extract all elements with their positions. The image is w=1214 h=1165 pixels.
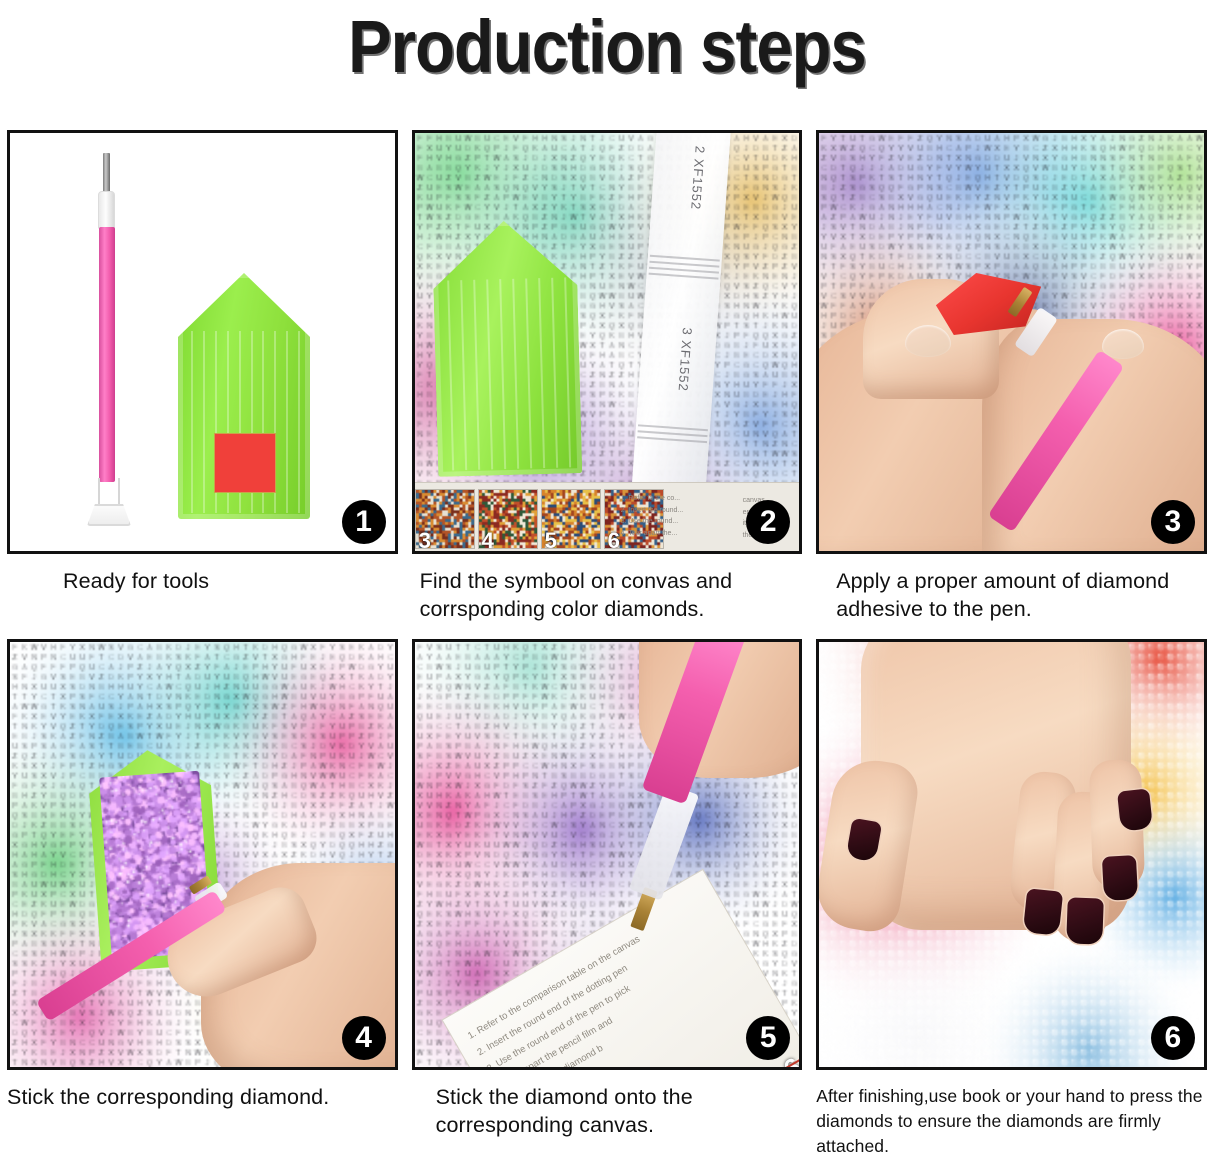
- page-title: Production steps: [73, 4, 1141, 89]
- sheet-thumb-number: 5: [545, 528, 557, 549]
- step-badge-6: 6: [1151, 1016, 1195, 1060]
- sheet-thumb: 3: [415, 489, 475, 549]
- step-panel-3[interactable]: 3: [816, 130, 1207, 554]
- step-caption-6: After finishing,use book or your hand to…: [816, 1070, 1207, 1159]
- fingernail: [1023, 888, 1063, 936]
- fingernail: [1102, 329, 1144, 359]
- step-cell-2: 2 XF1552 3 XF1552 3 4 5 6 1. Refer to th…: [405, 130, 810, 623]
- pen-stand: [85, 478, 129, 524]
- step-cell-4: 4 Stick the corresponding diamond.: [0, 639, 405, 1159]
- step-cell-5: 1. Refer to the comparison table on the …: [405, 639, 810, 1159]
- step-badge-5: 5: [746, 1016, 790, 1060]
- sheet-thumb-number: 6: [608, 528, 620, 549]
- step-caption-2: Find the symbool on convas and corrspond…: [412, 554, 803, 623]
- step-caption-4: Stick the corresponding diamond.: [7, 1070, 398, 1112]
- sheet-instruction-lines: 1. Refer to the co... 2. Insert the roun…: [621, 493, 741, 539]
- steps-row-top: 1 Ready for tools: [0, 130, 1214, 623]
- sheet-thumb: 4: [478, 489, 538, 549]
- bag-label-1: 2 XF1552: [688, 145, 707, 210]
- step-panel-1[interactable]: 1: [7, 130, 398, 554]
- pen-body: [99, 227, 115, 482]
- step-caption-5: Stick the diamond onto the corresponding…: [412, 1070, 803, 1139]
- steps-row-bottom: 4 Stick the corresponding diamond. 1. Re…: [0, 639, 1214, 1159]
- sheet-thumb-number: 3: [419, 528, 431, 549]
- diamond-tray-icon: [431, 219, 582, 477]
- sheet-line: 2. Insert the round...: [621, 505, 741, 517]
- step-badge-3: 3: [1151, 500, 1195, 544]
- diamond-pen-icon: [96, 153, 118, 523]
- tray-edge: [431, 219, 582, 477]
- step-badge-1: 1: [342, 500, 386, 544]
- step-panel-4[interactable]: 4: [7, 639, 398, 1070]
- step-panel-2[interactable]: 2 XF1552 3 XF1552 3 4 5 6 1. Refer to th…: [412, 130, 803, 554]
- step-panel-6[interactable]: 6: [816, 639, 1207, 1070]
- sheet-line: 1. Refer to the co...: [621, 493, 741, 505]
- bag-label-2: 3 XF1552: [675, 327, 694, 392]
- diamond-tray-icon: [178, 273, 310, 519]
- sheet-line: 3. Use the round...: [621, 516, 741, 528]
- pen-collar: [98, 191, 115, 229]
- step-panel-5[interactable]: 1. Refer to the comparison table on the …: [412, 639, 803, 1070]
- step-cell-3: 3 Apply a proper amount of diamond adhes…: [809, 130, 1214, 623]
- pen-tip: [103, 153, 110, 193]
- sheet-thumb: 5: [541, 489, 601, 549]
- step-cell-6: 6 After finishing,use book or your hand …: [809, 639, 1214, 1159]
- instruction-sheet: 3 4 5 6 1. Refer to the co... 2. Insert …: [413, 482, 803, 553]
- step-badge-2: 2: [746, 500, 790, 544]
- fingernail: [1117, 788, 1153, 831]
- fingernail: [1102, 855, 1138, 901]
- sheet-thumb-number: 4: [482, 528, 494, 549]
- step-badge-4: 4: [342, 1016, 386, 1060]
- fingernail: [1066, 897, 1104, 944]
- sheet-image: [527, 1069, 705, 1070]
- step-caption-3: Apply a proper amount of diamond adhesiv…: [816, 554, 1207, 623]
- sheet-line: 4. Tear apart the...: [621, 528, 741, 540]
- steps-grid: 1 Ready for tools: [0, 130, 1214, 1159]
- tray-red-label: [214, 433, 276, 493]
- step-cell-1: 1 Ready for tools: [0, 130, 405, 623]
- step-caption-1: Ready for tools: [7, 554, 398, 596]
